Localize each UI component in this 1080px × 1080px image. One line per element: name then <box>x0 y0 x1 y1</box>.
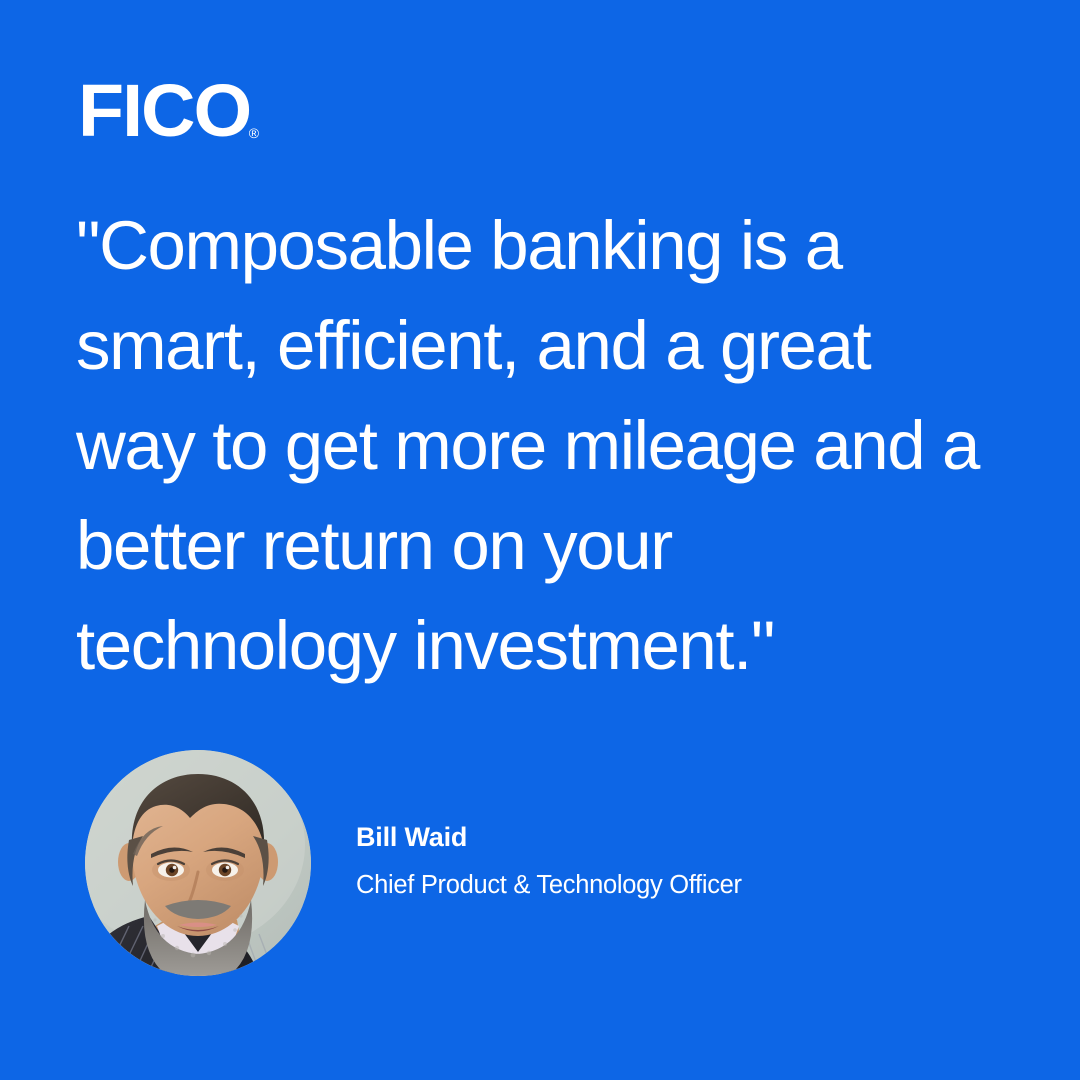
quote-line: smart, efficient, and a great <box>76 296 1036 396</box>
quote-text: "Composable banking is a smart, efficien… <box>76 196 1036 696</box>
attribution-text: Bill Waid Chief Product & Technology Off… <box>356 821 742 905</box>
fico-logo-wordmark: FICO <box>78 81 250 142</box>
attribution-block: Bill Waid Chief Product & Technology Off… <box>85 750 742 976</box>
quote-line: better return on your <box>76 496 1036 596</box>
quote-line: "Composable banking is a <box>76 196 1036 296</box>
person-title: Chief Product & Technology Officer <box>356 870 742 901</box>
fico-logo: FICO ® <box>78 72 259 142</box>
quote-line: technology investment." <box>76 596 1036 696</box>
avatar <box>85 750 311 976</box>
avatar-portrait-image <box>85 750 311 976</box>
quote-line: way to get more mileage and a <box>76 396 1036 496</box>
person-name: Bill Waid <box>356 821 742 853</box>
quote-card: FICO ® "Composable banking is a smart, e… <box>0 0 1080 1080</box>
registered-trademark-icon: ® <box>249 126 259 140</box>
